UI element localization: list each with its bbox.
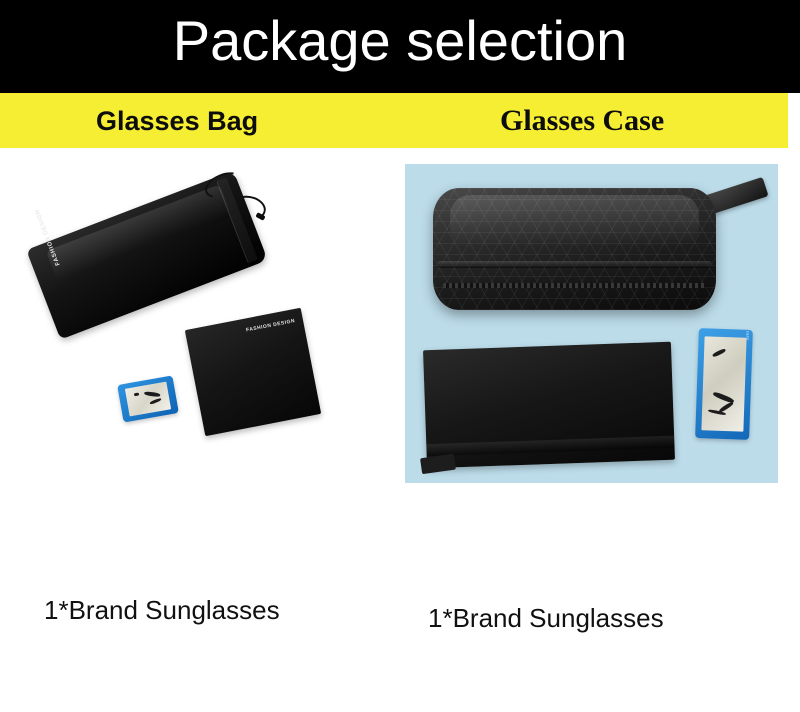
test-card-micro-text: Polarized lens test card	[746, 328, 753, 340]
case-zipper	[443, 283, 706, 288]
spec-item: 1*Brand Sunglasses	[44, 588, 284, 632]
cleaning-cloth-square: FASHION DESIGN	[185, 308, 321, 437]
cleaning-cloth-rect	[423, 342, 675, 469]
case-highlight	[450, 195, 699, 246]
photo-glasses-bag: FASHION DESIGN FASHION DESIGN	[8, 152, 396, 482]
photo-glasses-case: Polarized lens test card	[405, 164, 778, 483]
spec-list-glasses-case: 1*Brand Sunglasses 1* glasses case 1*Gla…	[428, 508, 668, 712]
test-card-window	[125, 382, 171, 417]
test-card-mark	[134, 393, 139, 397]
option-heading-glasses-bag: Glasses Bag	[96, 105, 258, 137]
page-title: Package selection	[0, 8, 800, 74]
test-card-mark	[149, 398, 161, 405]
drawstring-pouch: FASHION DESIGN	[26, 170, 268, 339]
pouch-highlight	[45, 184, 231, 281]
title-bar: Package selection	[0, 0, 800, 93]
spec-item: 1*Brand Sunglasses	[428, 596, 668, 640]
spec-list-glasses-bag: 1*Brand Sunglasses 1*Glasses bag 1*Glass…	[44, 500, 284, 712]
cloth-brand-print: FASHION DESIGN	[246, 318, 296, 333]
polarized-test-card-right: Polarized lens test card	[695, 328, 753, 440]
option-heading-glasses-case: Glasses Case	[500, 105, 664, 137]
case-seam	[437, 261, 712, 268]
cloth-fold	[426, 436, 674, 457]
test-card-window	[701, 336, 746, 431]
polarized-test-card-left	[117, 375, 179, 422]
test-card-mark	[144, 391, 160, 397]
package-selection-page: Package selection Glasses Bag Glasses Ca…	[0, 0, 800, 712]
hard-zipper-case	[433, 188, 716, 310]
cloth-corner	[420, 454, 456, 475]
test-card-mark	[712, 348, 726, 358]
